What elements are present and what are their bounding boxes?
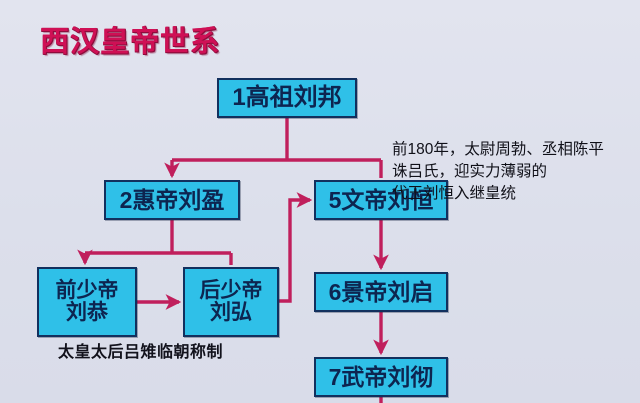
annotation-wendi-succession: 前180年，太尉周勃、丞相陈平 诛吕氏，迎实力薄弱的 代王刘恒入继皇统 bbox=[392, 139, 636, 205]
node-jingdi[interactable]: 6景帝刘启 bbox=[314, 272, 448, 312]
caption-lvzhi: 太皇太后吕雉临朝称制 bbox=[58, 338, 223, 362]
node-wudi-label: 7武帝刘彻 bbox=[329, 365, 434, 389]
node-gaozu[interactable]: 1高祖刘邦 bbox=[217, 78, 357, 118]
node-houshaodi-label: 后少帝 刘弘 bbox=[200, 280, 263, 324]
wire-houshaodi-to-wendi bbox=[279, 200, 310, 301]
node-houshaodi[interactable]: 后少帝 刘弘 bbox=[183, 267, 279, 337]
node-huidi[interactable]: 2惠帝刘盈 bbox=[104, 180, 240, 220]
page-title: 西汉皇帝世系 bbox=[40, 18, 220, 60]
annotation-line-3: 代王刘恒入继皇统 bbox=[392, 183, 636, 205]
node-gaozu-label: 1高祖刘邦 bbox=[232, 85, 341, 110]
node-qianshaodi[interactable]: 前少帝 刘恭 bbox=[37, 267, 137, 337]
node-wudi[interactable]: 7武帝刘彻 bbox=[314, 357, 448, 397]
node-jingdi-label: 6景帝刘启 bbox=[329, 280, 434, 304]
node-qianshaodi-label: 前少帝 刘恭 bbox=[56, 280, 119, 324]
annotation-line-2: 诛吕氏，迎实力薄弱的 bbox=[392, 161, 636, 183]
annotation-line-1: 前180年，太尉周勃、丞相陈平 bbox=[392, 139, 636, 161]
node-huidi-label: 2惠帝刘盈 bbox=[120, 188, 225, 212]
diagram-canvas: 西汉皇帝世系 bbox=[0, 0, 640, 403]
